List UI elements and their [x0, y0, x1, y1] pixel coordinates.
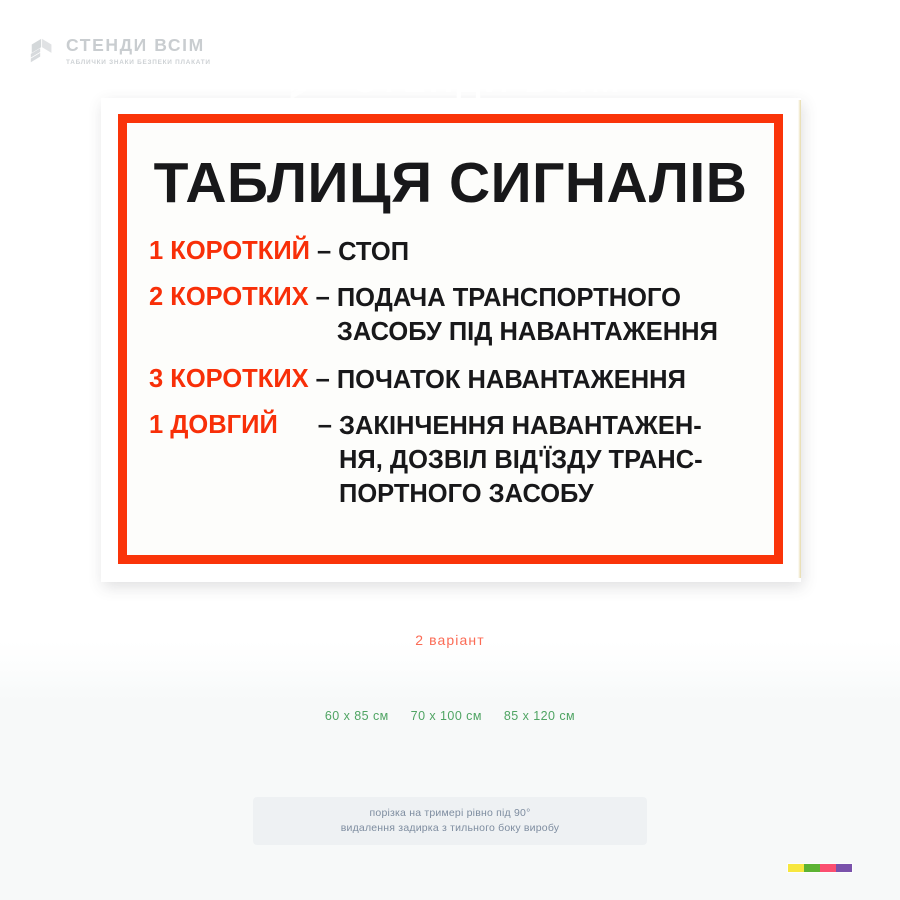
brand-subtitle: ТАБЛИЧКИ ЗНАКИ БЕЗПЕКИ ПЛАКАТИ	[66, 57, 211, 68]
signal-row: 3 КОРОТКИХ – ПОЧАТОК НАВАНТАЖЕННЯ	[149, 363, 764, 397]
signal-description: ПОЧАТОК НАВАНТАЖЕННЯ	[337, 363, 764, 397]
production-note-line: порізка на тримері рівно під 90°	[370, 806, 531, 821]
swatch-pink	[820, 864, 836, 872]
size-options: 60 x 85 см 70 x 100 см 85 x 120 см	[0, 709, 900, 723]
brand-logo[interactable]: СТЕНДИ ВСІМ ТАБЛИЧКИ ЗНАКИ БЕЗПЕКИ ПЛАКА…	[28, 36, 211, 68]
page-root: СТЕНДИ ВСІМ ТАБЛИЧКИ ЗНАКИ БЕЗПЕКИ ПЛАКА…	[0, 0, 900, 900]
signal-description-line: ЗАСОБУ ПІД НАВАНТАЖЕННЯ	[337, 315, 764, 349]
sign-white-backing: ТАБЛИЦЯ СИГНАЛІВ 1 КОРОТКИЙ – СТОП 2 КОР…	[101, 98, 801, 582]
signal-row: 1 ДОВГИЙ – ЗАКІНЧЕННЯ НАВАНТАЖЕН- НЯ, ДО…	[149, 409, 764, 511]
signal-row: 2 КОРОТКИХ – ПОДАЧА ТРАНСПОРТНОГО ЗАСОБУ…	[149, 281, 764, 349]
production-note-panel: порізка на тримері рівно під 90° видален…	[253, 797, 647, 845]
signal-description: ЗАКІНЧЕННЯ НАВАНТАЖЕН- НЯ, ДОЗВІЛ ВІД'ЇЗ…	[339, 409, 764, 511]
signal-description: СТОП	[338, 235, 764, 269]
color-swatch-bar	[788, 864, 852, 872]
signal-description-line: СТОП	[338, 235, 764, 269]
signal-code: 3 КОРОТКИХ	[149, 363, 309, 395]
signal-code: 2 КОРОТКИХ	[149, 281, 309, 313]
signal-description-line: ПОРТНОГО ЗАСОБУ	[339, 477, 764, 511]
signal-description-line: НЯ, ДОЗВІЛ ВІД'ЇЗДУ ТРАНС-	[339, 443, 764, 477]
sign-red-border-frame: ТАБЛИЦЯ СИГНАЛІВ 1 КОРОТКИЙ – СТОП 2 КОР…	[118, 114, 783, 564]
sign-content: ТАБЛИЦЯ СИГНАЛІВ 1 КОРОТКИЙ – СТОП 2 КОР…	[127, 123, 774, 555]
signal-description-line: ЗАКІНЧЕННЯ НАВАНТАЖЕН-	[339, 409, 764, 443]
signal-code: 1 ДОВГИЙ	[149, 409, 278, 441]
production-note-line: видалення задирка з тильного боку виробу	[341, 821, 560, 836]
signal-rows: 1 КОРОТКИЙ – СТОП 2 КОРОТКИХ – ПОДАЧА ТР…	[149, 235, 764, 519]
signal-dash: –	[278, 409, 339, 441]
layered-book-icon	[28, 36, 58, 66]
signal-code: 1 КОРОТКИЙ	[149, 235, 310, 267]
swatch-green	[804, 864, 820, 872]
swatch-purple	[836, 864, 852, 872]
sign-plate: ТАБЛИЦЯ СИГНАЛІВ 1 КОРОТКИЙ – СТОП 2 КОР…	[101, 98, 801, 582]
signal-row: 1 КОРОТКИЙ – СТОП	[149, 235, 764, 269]
size-option[interactable]: 85 x 120 см	[504, 709, 575, 723]
signal-dash: –	[309, 281, 337, 313]
variant-caption: 2 варіант	[0, 632, 900, 648]
signal-description-line: ПОДАЧА ТРАНСПОРТНОГО	[337, 281, 764, 315]
size-option[interactable]: 70 x 100 см	[411, 709, 482, 723]
signal-description: ПОДАЧА ТРАНСПОРТНОГО ЗАСОБУ ПІД НАВАНТАЖ…	[337, 281, 764, 349]
signal-dash: –	[310, 235, 338, 267]
swatch-yellow	[788, 864, 804, 872]
brand-name: СТЕНДИ ВСІМ	[66, 36, 211, 55]
sign-edge-highlight	[798, 100, 801, 578]
size-option[interactable]: 60 x 85 см	[325, 709, 389, 723]
sign-title: ТАБЛИЦЯ СИГНАЛІВ	[127, 153, 774, 213]
signal-description-line: ПОЧАТОК НАВАНТАЖЕННЯ	[337, 363, 764, 397]
watermark-text: СТЕНДИ ВСІМ	[352, 61, 623, 101]
signal-dash: –	[309, 363, 337, 395]
